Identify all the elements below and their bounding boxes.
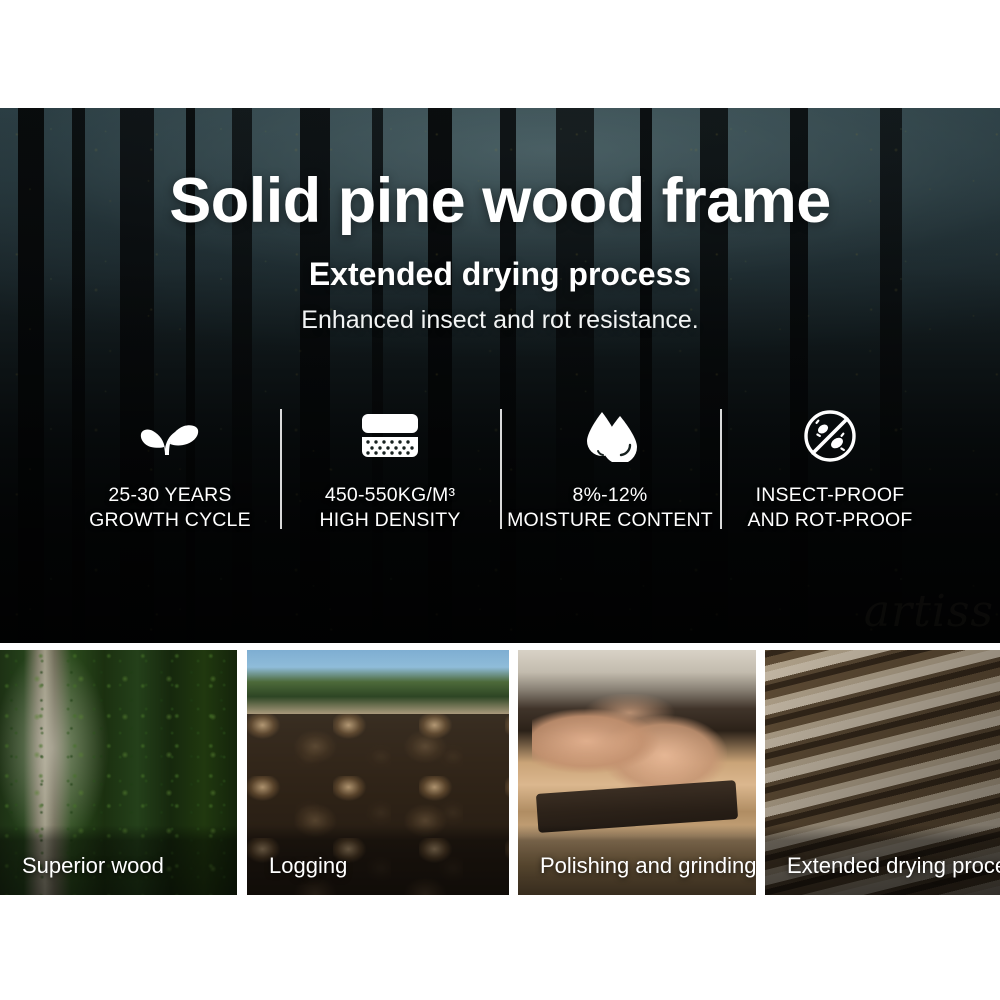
feature-insect-rot-proof-text: INSECT-PROOF AND ROT-PROOF — [747, 483, 912, 533]
leaf-sprout-icon — [139, 405, 201, 467]
feature-growth-cycle-line2: GROWTH CYCLE — [89, 508, 251, 533]
feature-growth-cycle-text: 25-30 YEARS GROWTH CYCLE — [89, 483, 251, 533]
feature-moisture-content-line1: 8%-12% — [573, 484, 648, 506]
feature-growth-cycle-line1: 25-30 YEARS — [108, 484, 231, 506]
process-image-strip: Superior wood Logging Polishing and grin… — [0, 650, 1000, 895]
process-panel-superior-wood[interactable]: Superior wood — [0, 650, 237, 895]
panel-caption: Superior wood — [22, 853, 164, 879]
feature-insect-rot-proof-line1: INSECT-PROOF — [756, 484, 905, 506]
density-mattress-icon — [361, 405, 419, 467]
feature-growth-cycle: 25-30 YEARS GROWTH CYCLE — [60, 403, 280, 543]
feature-high-density-line2: HIGH DENSITY — [319, 508, 460, 533]
panel-caption: Polishing and grinding — [540, 853, 756, 879]
process-panel-polishing-grinding[interactable]: Polishing and grinding — [518, 650, 756, 895]
hero-tagline: Enhanced insect and rot resistance. — [0, 308, 1000, 333]
product-infographic-page: Solid pine wood frame Extended drying pr… — [0, 0, 1000, 1000]
water-droplets-icon — [582, 405, 638, 467]
hero-banner: Solid pine wood frame Extended drying pr… — [0, 108, 1000, 643]
feature-moisture-content: 8%-12% MOISTURE CONTENT — [500, 403, 720, 543]
feature-moisture-content-text: 8%-12% MOISTURE CONTENT — [507, 483, 713, 533]
feature-high-density: 450-550KG/M³ HIGH DENSITY — [280, 403, 500, 543]
hero-subheadline: Extended drying process — [0, 258, 1000, 290]
no-insect-icon — [803, 405, 857, 467]
process-panel-extended-drying[interactable]: Extended drying proces — [765, 650, 1000, 895]
feature-high-density-line1: 450-550KG/M³ — [325, 484, 455, 506]
hero-headline: Solid pine wood frame — [0, 170, 1000, 233]
feature-list: 25-30 YEARS GROWTH CYCLE — [60, 403, 940, 543]
panel-caption: Extended drying proces — [787, 853, 1000, 879]
panel-caption: Logging — [269, 853, 347, 879]
hero-content: Solid pine wood frame Extended drying pr… — [0, 108, 1000, 643]
process-panel-logging[interactable]: Logging — [247, 650, 509, 895]
feature-insect-rot-proof-line2: AND ROT-PROOF — [747, 508, 912, 533]
feature-insect-rot-proof: INSECT-PROOF AND ROT-PROOF — [720, 403, 940, 543]
feature-moisture-content-line2: MOISTURE CONTENT — [507, 508, 713, 533]
feature-high-density-text: 450-550KG/M³ HIGH DENSITY — [319, 483, 460, 533]
